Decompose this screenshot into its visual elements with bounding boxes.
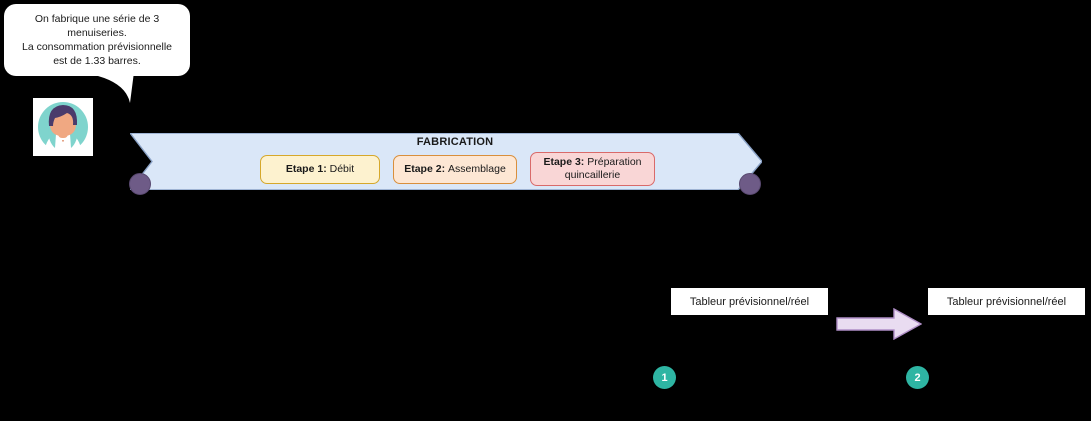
spreadsheet-box-1[interactable]: Tableur prévisionnel/réel — [671, 288, 828, 315]
avatar — [33, 98, 93, 156]
step-chip-etape-2-label: Assemblage — [448, 163, 506, 175]
step-chip-etape-2[interactable]: Etape 2: Assemblage — [393, 155, 517, 184]
speech-bubble-line-3: La consommation prévisionnelle — [22, 40, 172, 54]
step-chip-etape-1-label: Débit — [330, 163, 355, 175]
right-arrow-icon — [836, 308, 922, 340]
process-start-dot — [129, 173, 151, 195]
step-chip-etape-3-lead: Etape 3: — [543, 156, 584, 168]
speech-bubble-line-1: On fabrique une série de 3 — [35, 12, 159, 26]
spreadsheet-box-2[interactable]: Tableur prévisionnel/réel — [928, 288, 1085, 315]
fabrication-title: FABRICATION — [330, 136, 580, 148]
speech-bubble-line-4: est de 1.33 barres. — [53, 54, 141, 68]
speech-bubble-line-2: menuiseries. — [67, 26, 127, 40]
speech-bubble: On fabrique une série de 3 menuiseries. … — [4, 4, 190, 76]
process-end-dot — [739, 173, 761, 195]
step-chip-etape-1[interactable]: Etape 1: Débit — [260, 155, 380, 184]
diagram-canvas: On fabrique une série de 3 menuiseries. … — [0, 0, 1091, 421]
step-chip-etape-3[interactable]: Etape 3: Préparation quincaillerie — [530, 152, 655, 186]
step-badge-1[interactable]: 1 — [653, 366, 676, 389]
step-chip-etape-1-lead: Etape 1: — [286, 163, 327, 175]
speech-bubble-tail-icon — [96, 70, 136, 104]
step-badge-2[interactable]: 2 — [906, 366, 929, 389]
step-chip-etape-2-lead: Etape 2: — [404, 163, 445, 175]
